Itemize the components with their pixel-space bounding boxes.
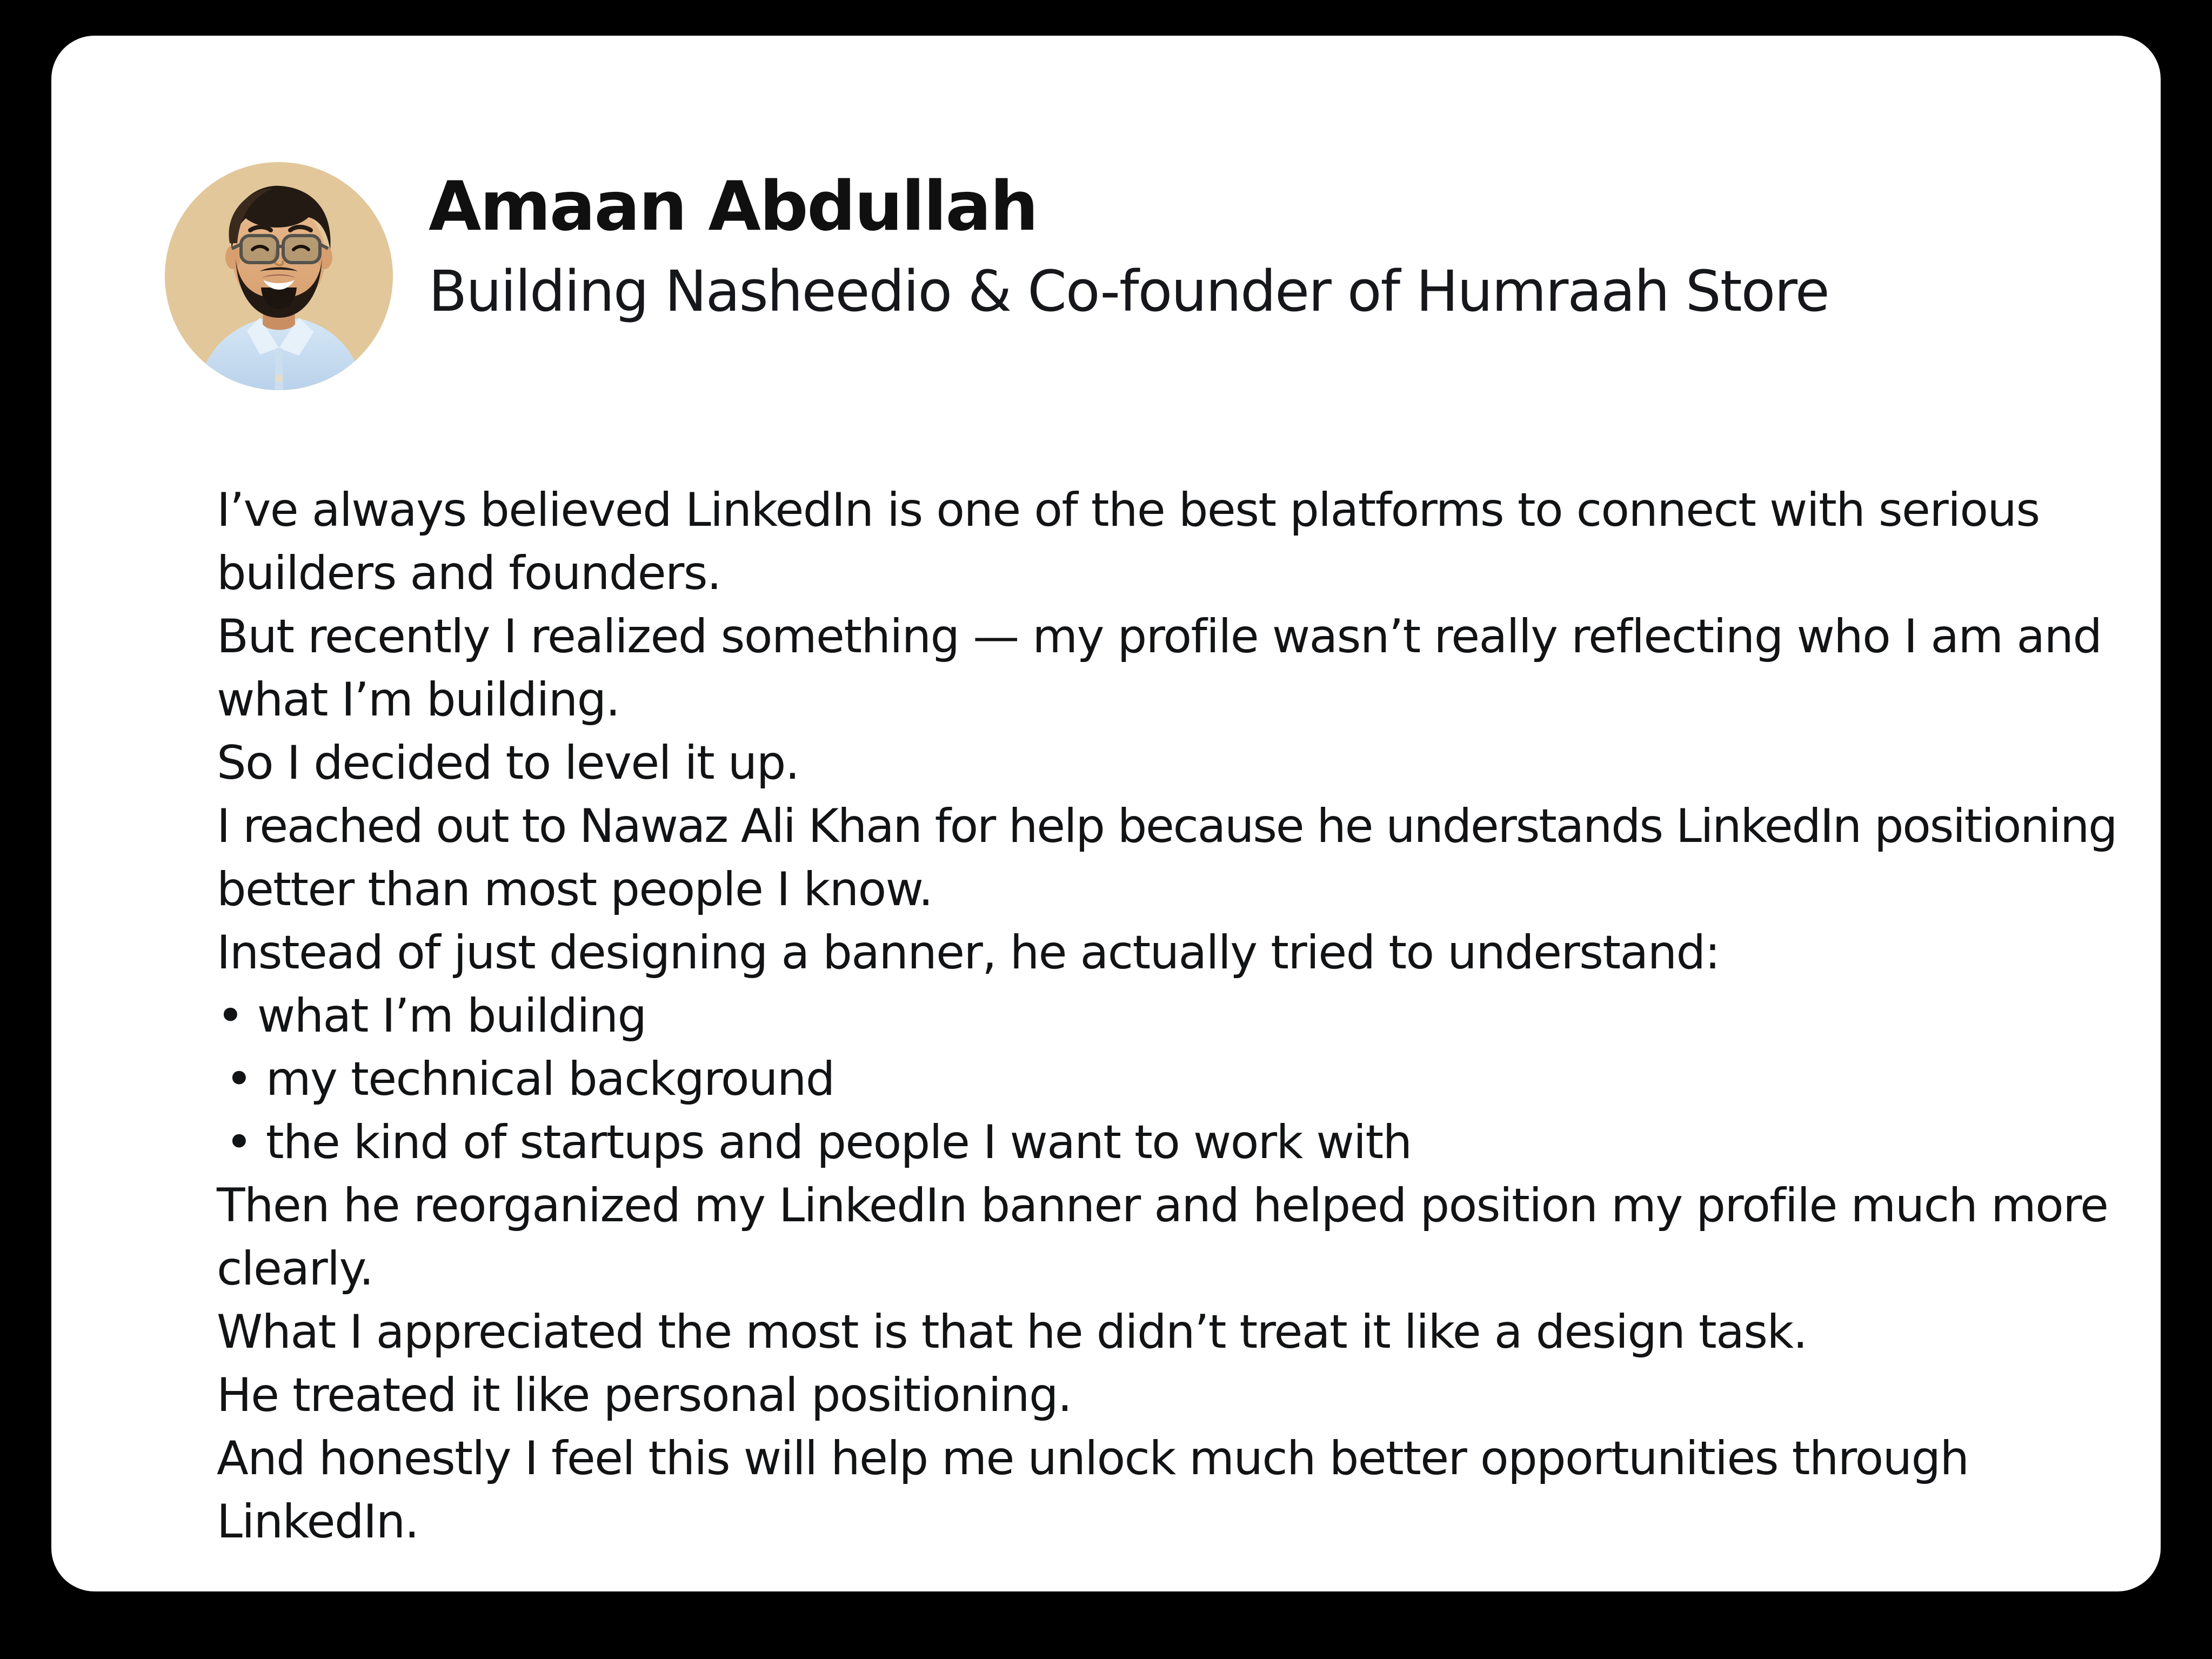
post-line: Instead of just designing a banner, he a… [217,921,2161,985]
post-line: He treated it like personal positioning. [217,1364,2161,1427]
profile-header-text: Amaan Abdullah Building Nasheedio & Co-f… [429,168,2088,326]
post-bullet-item: • what I’m building [217,985,2161,1048]
post-line: What I appreciated the most is that he d… [217,1301,2161,1364]
post-line: I reached out to Nawaz Ali Khan for help… [217,795,2161,858]
testimonial-card: Amaan Abdullah Building Nasheedio & Co-f… [51,36,2161,1591]
post-line: builders and founders. [217,542,2161,605]
post-bullet-item: • the kind of startups and people I want… [217,1111,2161,1174]
post-line: So I decided to level it up. [217,732,2161,795]
profile-headline: Building Nasheedio & Co-founder of Humra… [429,257,2088,326]
post-bullet-item: • my technical background [217,1048,2161,1111]
post-line: I’ve always believed LinkedIn is one of … [217,479,2161,542]
post-line: what I’m building. [217,668,2161,732]
profile-name: Amaan Abdullah [429,168,2088,245]
post-line: Then he reorganized my LinkedIn banner a… [217,1174,2161,1237]
post-line: better than most people I know. [217,858,2161,921]
post-line: But recently I realized something — my p… [217,605,2161,668]
profile-header: Amaan Abdullah Building Nasheedio & Co-f… [165,162,2089,394]
post-line: LinkedIn. [217,1490,2161,1554]
post-line: clearly. [217,1237,2161,1301]
avatar-photo [165,162,393,390]
avatar [165,162,393,390]
post-line: And honestly I feel this will help me un… [217,1427,2161,1490]
post-body: I’ve always believed LinkedIn is one of … [217,479,2161,1554]
